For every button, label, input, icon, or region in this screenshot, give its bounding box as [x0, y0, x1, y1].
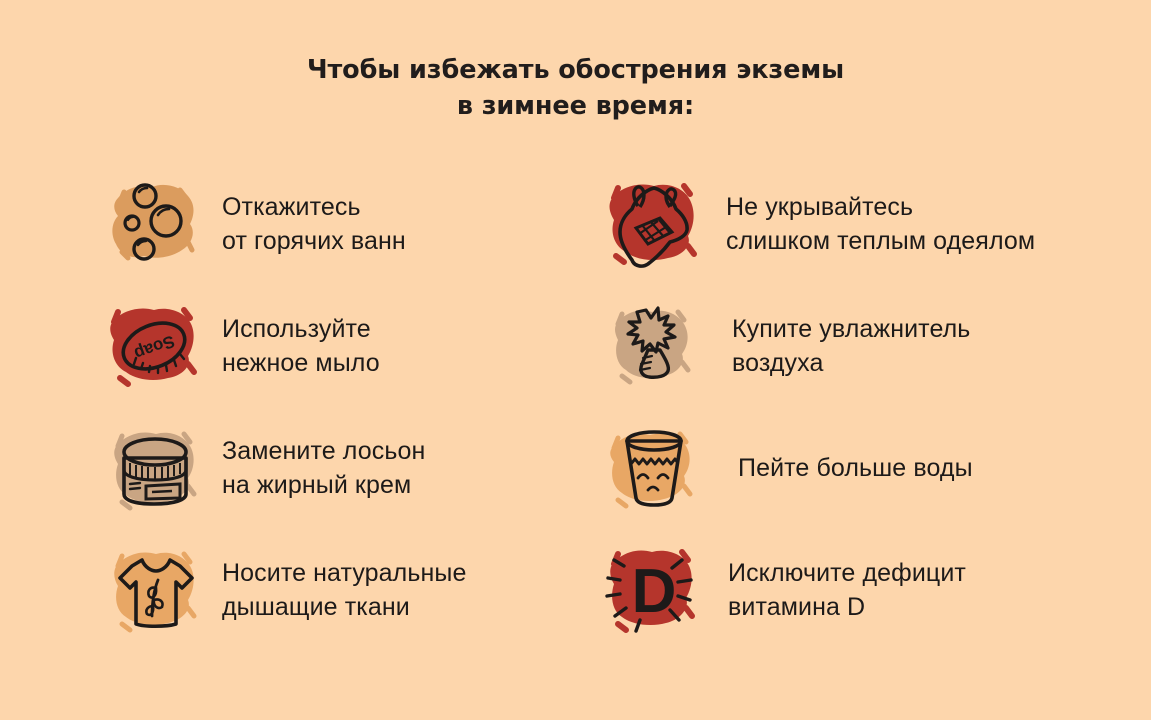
- tip-text-vitamin-d: Исключите дефицит витамина D: [728, 556, 966, 624]
- blanket-icon: [602, 172, 706, 276]
- page-title-line-2: в зимнее время:: [0, 88, 1151, 124]
- cream-jar-icon: [104, 418, 208, 522]
- tip-item-humidifier: Купите увлажнитель воздуха: [602, 285, 1142, 407]
- tip-item-vitamin-d: D Исключите дефицит витамина D: [602, 529, 1142, 651]
- tshirt-icon: [104, 538, 208, 642]
- tip-line-2: нежное мыло: [222, 346, 380, 380]
- tip-item-water: Пейте больше воды: [602, 407, 1142, 529]
- tip-item-cream: Замените лосьон на жирный крем: [104, 407, 566, 529]
- tip-line-1: Откажитесь: [222, 190, 406, 224]
- vitamin-d-icon: D: [602, 538, 706, 642]
- tip-line-1: Замените лосьон: [222, 434, 425, 468]
- tip-line-2: слишком теплым одеялом: [726, 224, 1035, 258]
- tip-text-blanket: Не укрывайтесь слишком теплым одеялом: [726, 190, 1035, 258]
- tip-line-1: Исключите дефицит: [728, 556, 966, 590]
- tip-text-cream: Замените лосьон на жирный крем: [222, 434, 425, 502]
- vitamin-d-label: D: [632, 557, 677, 626]
- tip-item-soap: Soap Используйте нежное мыло: [104, 285, 566, 407]
- water-glass-icon: [602, 416, 706, 520]
- tip-line-2: воздуха: [732, 346, 970, 380]
- soap-bar-icon: Soap: [104, 294, 208, 398]
- tip-text-humidifier: Купите увлажнитель воздуха: [732, 312, 970, 380]
- tip-text-soap: Используйте нежное мыло: [222, 312, 380, 380]
- tip-text-hot-baths: Откажитесь от горячих ванн: [222, 190, 406, 258]
- humidifier-icon: [602, 294, 706, 398]
- tip-line-2: на жирный крем: [222, 468, 425, 502]
- tip-line-1: Не укрывайтесь: [726, 190, 1035, 224]
- tip-item-blanket: Не укрывайтесь слишком теплым одеялом: [602, 163, 1142, 285]
- tip-line-1: Пейте больше воды: [738, 451, 973, 485]
- tip-text-fabrics: Носите натуральные дышащие ткани: [222, 556, 466, 624]
- tip-line-1: Купите увлажнитель: [732, 312, 970, 346]
- tip-text-water: Пейте больше воды: [738, 451, 973, 485]
- tip-line-2: витамина D: [728, 590, 966, 624]
- tip-line-1: Носите натуральные: [222, 556, 466, 590]
- tip-item-fabrics: Носите натуральные дышащие ткани: [104, 529, 566, 651]
- tip-line-1: Используйте: [222, 312, 380, 346]
- tip-line-2: от горячих ванн: [222, 224, 406, 258]
- bubbles-icon: [104, 172, 208, 276]
- page-title: Чтобы избежать обострения экземы в зимне…: [0, 52, 1151, 124]
- page-title-line-1: Чтобы избежать обострения экземы: [0, 52, 1151, 88]
- tip-line-2: дышащие ткани: [222, 590, 466, 624]
- tips-grid: Откажитесь от горячих ванн Не укрывайтес…: [0, 163, 1151, 651]
- tip-item-hot-baths: Откажитесь от горячих ванн: [104, 163, 566, 285]
